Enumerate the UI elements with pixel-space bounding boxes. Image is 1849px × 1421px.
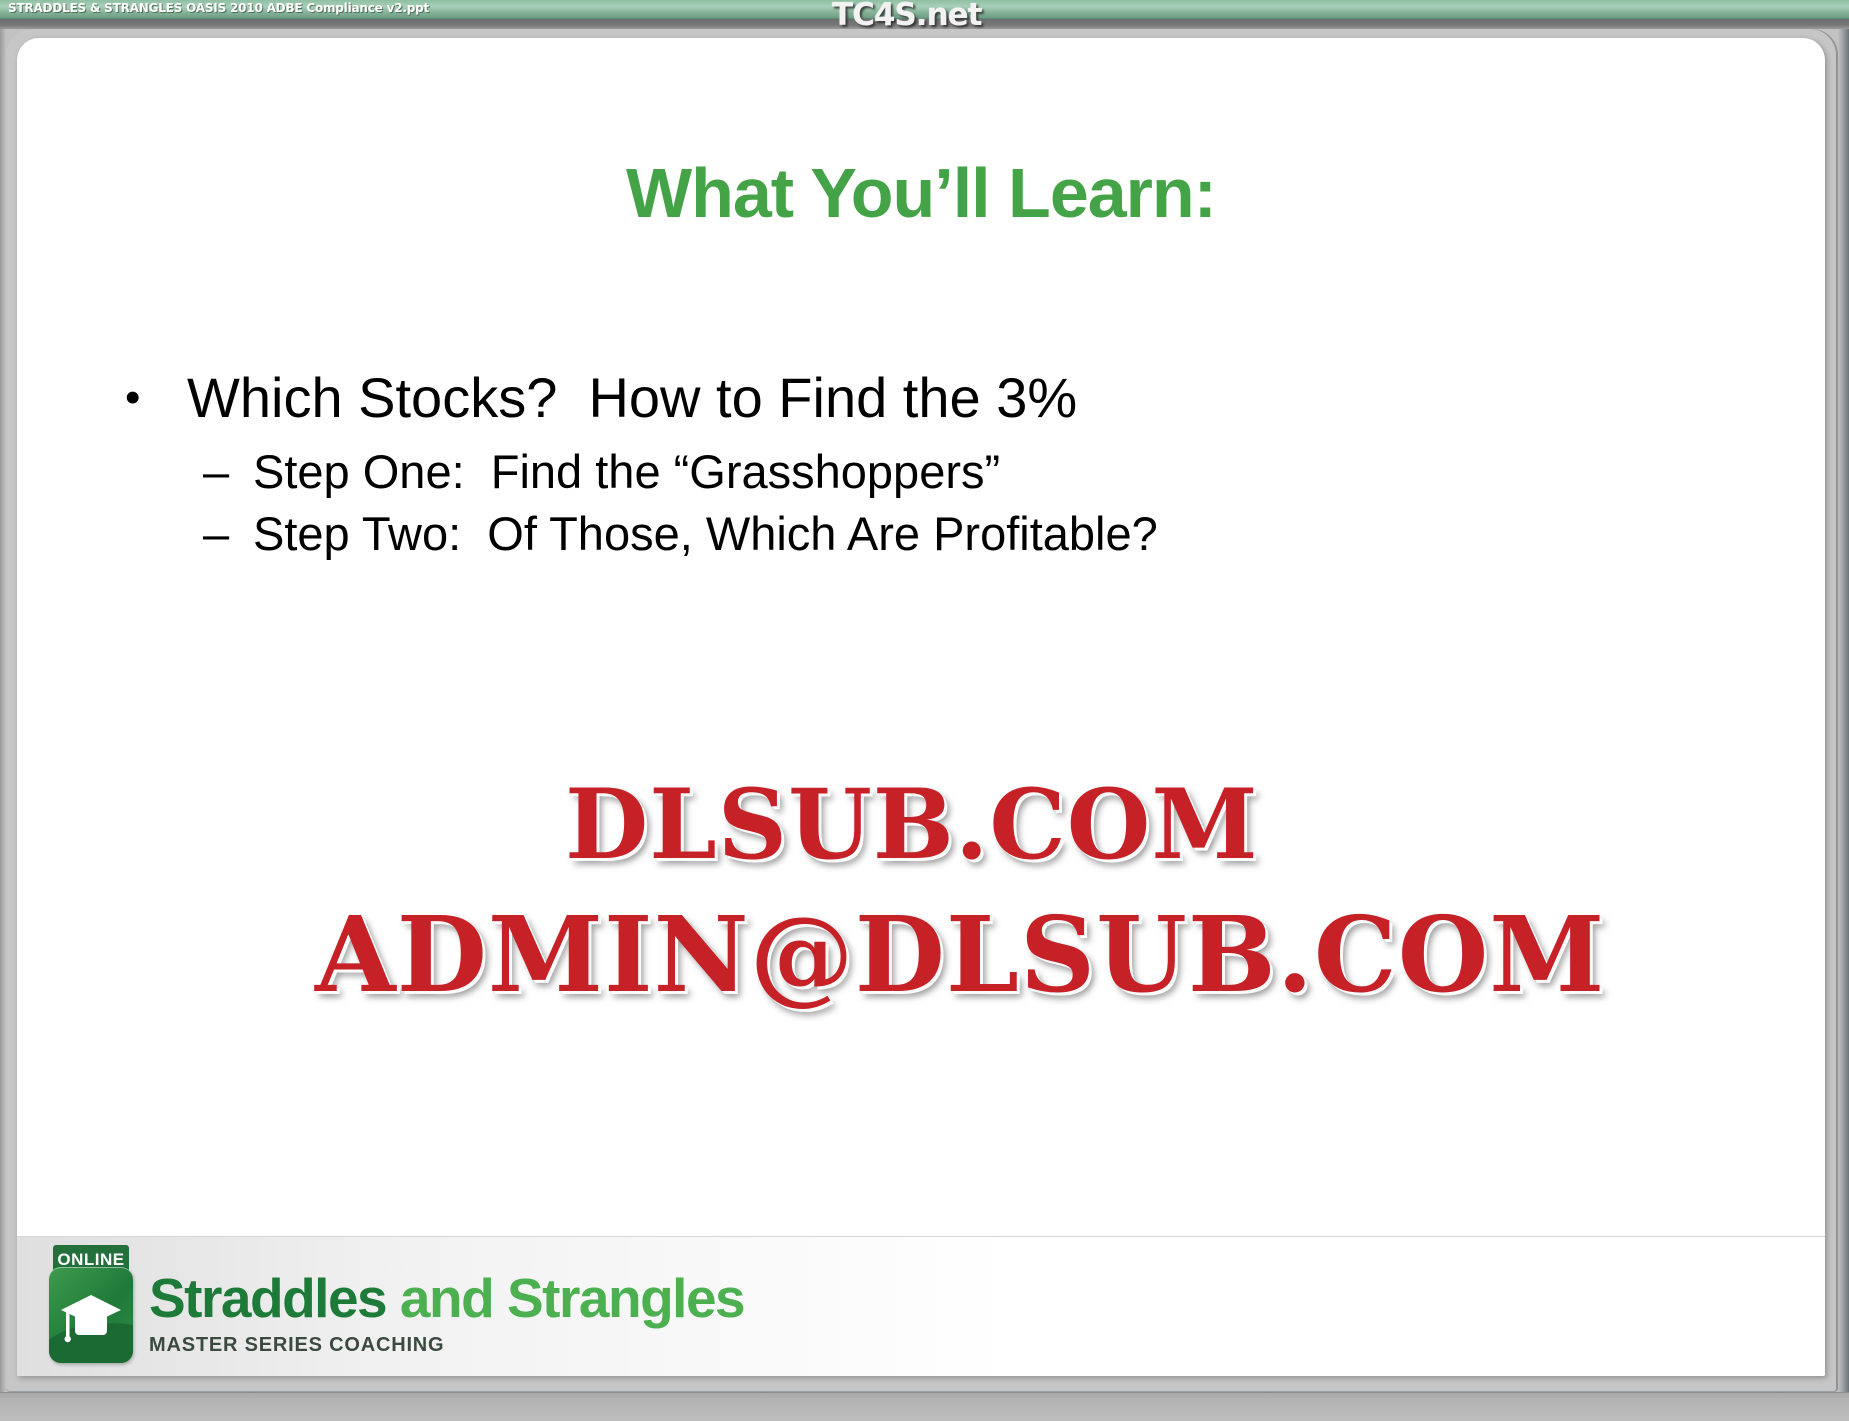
slide-canvas[interactable]: What You’ll Learn: • Which Stocks? How t… (17, 38, 1825, 1376)
logo-badge: ONLINE (49, 1245, 133, 1363)
logo-wordmark: Straddles and Strangles MASTER SERIES CO… (149, 1245, 744, 1357)
site-watermark-tc4s: TC4S.net (832, 0, 981, 33)
logo-tagline: MASTER SERIES COACHING (149, 1334, 744, 1357)
bullet-item-level2: – Step One: Find the “Grasshoppers” (203, 446, 1717, 498)
bullet-text: Step One: Find the “Grasshoppers” (253, 446, 1000, 498)
brand-logo: ONLINE Straddles and Stran (49, 1245, 744, 1363)
logo-icon-tile (49, 1267, 133, 1363)
slide-bullet-list: • Which Stocks? How to Find the 3% – Ste… (117, 368, 1717, 570)
logo-name-bold: Straddles (149, 1267, 386, 1329)
bullet-marker-dot: • (117, 368, 187, 427)
slide-footer: ONLINE Straddles and Stran (17, 1236, 1825, 1376)
presentation-window: STRADDLES & STRANGLES OASIS 2010 ADBE Co… (0, 0, 1849, 1421)
bullet-text: Which Stocks? How to Find the 3% (187, 368, 1077, 428)
bullet-text: Step Two: Of Those, Which Are Profitable… (253, 508, 1158, 560)
logo-name-line: Straddles and Strangles (149, 1271, 744, 1326)
bullet-marker-dash: – (203, 446, 253, 498)
overlay-watermark-domain: DLSUB.COM (565, 768, 1259, 881)
overlay-watermark-email: ADMIN@DLSUB.COM (315, 893, 1605, 1016)
graduation-cap-icon (59, 1293, 123, 1343)
bullet-item-level2: – Step Two: Of Those, Which Are Profitab… (203, 508, 1717, 560)
bullet-marker-dash: – (203, 508, 253, 560)
bottom-taskbar-strip[interactable] (0, 1392, 1849, 1421)
window-right-edge (1838, 29, 1849, 1392)
logo-name-light: and Strangles (386, 1267, 744, 1329)
bullet-item-level1: • Which Stocks? How to Find the 3% (117, 368, 1717, 428)
window-title-text: STRADDLES & STRANGLES OASIS 2010 ADBE Co… (8, 1, 429, 15)
slide-frame: What You’ll Learn: • Which Stocks? How t… (6, 29, 1838, 1392)
slide-title: What You’ll Learn: (17, 153, 1825, 233)
